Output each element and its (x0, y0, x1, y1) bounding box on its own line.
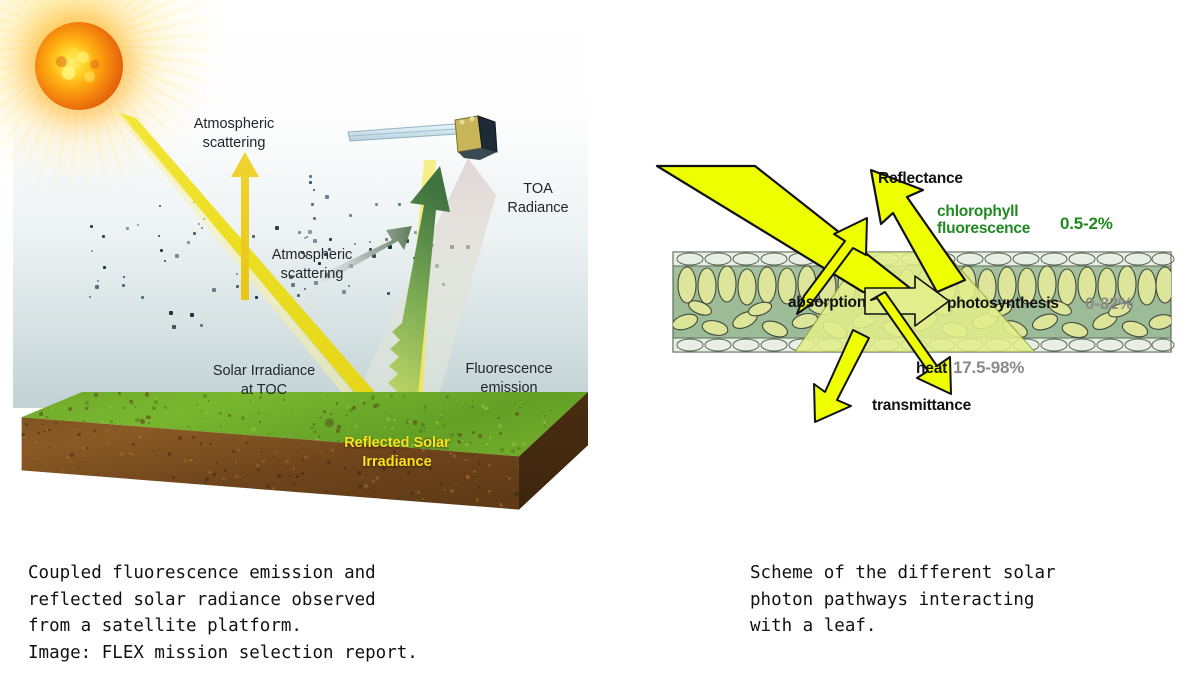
soil-grain (93, 430, 95, 432)
soil-grain (184, 459, 188, 463)
soil-grain (274, 451, 276, 453)
soil-grain (44, 430, 46, 432)
grass-speck (386, 417, 390, 421)
soil-grain (274, 446, 276, 448)
grass-speck (336, 429, 340, 433)
satellite-antenna-icon (470, 117, 475, 122)
grass-speck (39, 412, 43, 416)
soil-grain (105, 495, 108, 498)
grass-speck (472, 400, 473, 401)
grass-speck (435, 421, 438, 424)
grass-speck (311, 427, 313, 429)
grass-speck (228, 414, 231, 417)
grass-speck (489, 436, 492, 439)
soil-grain (197, 501, 201, 505)
soil-grain (273, 493, 276, 496)
grass-speck (337, 425, 340, 428)
grass-speck (110, 405, 113, 408)
soil-grain (115, 497, 118, 500)
soil-grain (250, 498, 253, 501)
left-figure-panel: Atmospheric scattering Atmospheric scatt… (0, 0, 600, 545)
soil-grain (321, 451, 323, 453)
soil-grain (272, 487, 275, 490)
soil-grain (20, 479, 24, 483)
soil-grain (100, 483, 103, 486)
soil-grain (132, 443, 135, 446)
soil-grain (488, 464, 492, 468)
grass-speck (220, 425, 222, 427)
soil-grain (473, 470, 476, 473)
soil-grain (172, 497, 176, 501)
soil-grain (285, 460, 289, 464)
grass-speck (313, 423, 316, 426)
soil-grain (28, 473, 32, 477)
grass-speck (51, 407, 53, 409)
soil-grain (385, 475, 386, 476)
soil-grain (245, 442, 248, 445)
grass-speck (498, 424, 502, 428)
soil-grain (455, 483, 456, 484)
soil-grain (478, 462, 481, 465)
soil-grain (261, 451, 263, 453)
grass-speck (258, 412, 260, 414)
soil-grain (372, 480, 375, 483)
soil-grain (62, 487, 66, 491)
soil-grain (192, 436, 195, 439)
caption-left: Coupled fluorescence emission and reflec… (28, 560, 418, 666)
soil-grain (353, 500, 356, 503)
soil-grain (273, 491, 275, 493)
label-photosynthesis-value: 0-82% (1085, 294, 1133, 314)
grass-speck (355, 425, 358, 428)
soil-grain (358, 485, 362, 489)
soil-grain (222, 495, 224, 497)
soil-grain (499, 503, 503, 507)
soil-grain (239, 476, 241, 478)
soil-grain (273, 494, 276, 497)
grass-speck (148, 422, 150, 424)
grass-speck (550, 409, 552, 411)
soil-grain (152, 450, 153, 451)
grass-speck (205, 411, 209, 415)
soil-grain (407, 471, 411, 475)
soil-grain (295, 482, 296, 483)
soil-grain (103, 497, 105, 499)
grass-speck (446, 395, 450, 399)
soil-grain (296, 475, 299, 478)
soil-grain (200, 442, 203, 445)
soil-grain (217, 479, 218, 480)
grass-speck (497, 417, 499, 419)
soil-grain (117, 438, 118, 439)
grass-speck (532, 429, 533, 430)
grass-speck (391, 427, 394, 430)
grass-speck (519, 407, 520, 408)
soil-grain (237, 449, 240, 452)
soil-grain (273, 482, 274, 483)
soil-grain (247, 493, 249, 495)
grass-speck (145, 392, 149, 396)
soil-grain (117, 455, 118, 456)
soil-grain (301, 472, 304, 475)
soil-grain (326, 490, 328, 492)
soil-grain (235, 475, 238, 478)
soil-grain (111, 452, 112, 453)
soil-grain (168, 452, 172, 456)
ground-block (13, 392, 588, 532)
grass-speck (387, 395, 389, 397)
soil-grain (294, 499, 296, 501)
soil-grain (411, 492, 415, 496)
grass-speck (320, 424, 321, 425)
grass-speck (251, 409, 253, 411)
soil-grain (478, 486, 480, 488)
grass-speck (110, 420, 112, 422)
soil-grain (204, 481, 206, 483)
grass-speck (443, 424, 445, 426)
soil-grain (292, 483, 294, 485)
soil-grain (173, 475, 174, 476)
soil-grain (291, 454, 293, 456)
soil-grain (106, 429, 109, 432)
grass-speck (542, 411, 543, 412)
soil-grain (302, 459, 304, 461)
grass-speck (403, 395, 406, 398)
soil-grain (21, 433, 24, 436)
grass-speck (189, 423, 190, 424)
grass-speck (472, 431, 475, 434)
grass-speck (291, 412, 293, 414)
soil-grain (156, 460, 158, 462)
grass-speck (373, 404, 376, 407)
grass-speck (384, 426, 386, 428)
grass-speck (517, 447, 520, 450)
grass-speck (213, 408, 214, 409)
satellite-body-gold (455, 116, 482, 152)
grass-speck (330, 420, 334, 424)
soil-grain (37, 432, 40, 435)
soil-grain (314, 501, 317, 504)
soil-grain (267, 484, 270, 487)
soil-grain (82, 461, 83, 462)
soil-grain (256, 464, 259, 467)
soil-grain (304, 456, 308, 460)
soil-grain (245, 452, 246, 453)
soil-grain (108, 442, 111, 445)
grass-speck (100, 420, 104, 424)
soil-grain (301, 440, 302, 441)
leaf-scheme-vectors (615, 0, 1200, 545)
grass-speck (408, 420, 411, 423)
grass-speck (522, 442, 526, 446)
grass-speck (376, 403, 380, 407)
soil-grain (192, 488, 194, 490)
grass-speck (393, 419, 396, 422)
grass-speck (196, 404, 198, 406)
grass-speck (68, 407, 72, 411)
grass-speck (208, 400, 210, 402)
grass-speck (471, 405, 474, 408)
grass-speck (515, 412, 519, 416)
grass-speck (201, 410, 202, 411)
soil-grain (232, 450, 234, 452)
soil-grain (131, 453, 134, 456)
grass-speck (85, 401, 89, 405)
grass-speck (367, 412, 369, 414)
grass-speck (484, 407, 487, 410)
grass-speck (226, 411, 227, 412)
soil-grain (224, 503, 225, 504)
grass-speck (390, 402, 391, 403)
grass-speck (441, 417, 443, 419)
grass-speck (320, 416, 323, 419)
soil-grain (422, 498, 424, 500)
soil-grain (25, 423, 27, 425)
soil-grain (242, 492, 243, 493)
soil-grain (235, 462, 237, 464)
soil-grain (139, 503, 140, 504)
soil-grain (13, 484, 15, 486)
grass-speck (222, 401, 223, 402)
grass-speck (217, 417, 220, 420)
soil-grain (87, 432, 89, 434)
label-reflected-solar-irradiance: Reflected Solar Irradiance (326, 434, 468, 471)
soil-grain (36, 444, 37, 445)
soil-grain (310, 502, 314, 506)
soil-grain (169, 488, 170, 489)
soil-grain (488, 490, 490, 492)
soil-grain (212, 473, 216, 477)
grass-speck (241, 416, 245, 420)
grass-speck (511, 449, 515, 453)
soil-grain (265, 499, 266, 500)
soil-grain (152, 499, 153, 500)
soil-grain (243, 436, 245, 438)
grass-speck (544, 415, 546, 417)
grass-speck (421, 423, 425, 427)
soil-grain (292, 467, 295, 470)
soil-grain (303, 445, 304, 446)
grass-speck (148, 416, 151, 419)
soil-grain (216, 462, 218, 464)
grass-speck (283, 399, 285, 401)
soil-grain (228, 496, 229, 497)
soil-grain (514, 492, 518, 496)
soil-grain (78, 466, 79, 467)
soil-grain (97, 473, 99, 475)
soil-grain (260, 499, 263, 502)
soil-grain (432, 497, 434, 499)
soil-grain (16, 446, 18, 448)
label-chlorophyll-fluorescence-value: 0.5-2% (1060, 214, 1113, 234)
grass-speck (135, 418, 139, 422)
grass-speck (345, 414, 347, 416)
grass-speck (85, 407, 88, 410)
grass-speck (219, 412, 222, 415)
soil-grain (288, 479, 289, 480)
grass-speck (500, 448, 504, 452)
soil-grain (76, 488, 79, 491)
soil-grain (13, 470, 15, 472)
label-toa-radiance: TOA Radiance (492, 180, 584, 217)
soil-grain (70, 453, 73, 456)
soil-grain (187, 434, 189, 436)
soil-grain (444, 489, 446, 491)
label-photosynthesis: photosynthesis (947, 295, 1059, 313)
grass-speck (140, 419, 144, 423)
soil-grain (476, 498, 479, 501)
soil-grain (55, 422, 57, 424)
soil-grain (52, 493, 54, 495)
soil-grain (372, 490, 374, 492)
soil-grain (357, 471, 361, 475)
grass-speck (134, 406, 136, 408)
grass-speck (446, 407, 448, 409)
label-heat-value: 17.5-98% (953, 358, 1024, 378)
soil-grain (32, 500, 36, 504)
grass-speck (94, 393, 98, 397)
label-fluorescence-emission: Fluorescence emission (452, 360, 566, 397)
soil-grain (208, 471, 211, 474)
soil-grain (289, 474, 291, 476)
grass-speck (118, 392, 121, 395)
soil-grain (367, 474, 368, 475)
grass-speck (390, 394, 393, 397)
soil-grain (311, 495, 314, 498)
grass-speck (251, 427, 255, 431)
grass-speck (336, 402, 339, 405)
soil-grain (48, 429, 51, 432)
soil-grain (191, 487, 194, 490)
soil-grain (125, 496, 128, 499)
soil-grain (222, 477, 225, 480)
soil-grain (417, 491, 420, 494)
soil-grain (376, 476, 379, 479)
grass-speck (314, 431, 316, 433)
grass-speck (424, 405, 427, 408)
soil-grain (316, 455, 318, 457)
soil-grain (46, 433, 48, 435)
satellite-thruster-icon (460, 120, 465, 125)
label-chlorophyll-fluorescence: chlorophyll fluorescence (937, 204, 1030, 237)
soil-grain (138, 435, 141, 438)
grass-speck (139, 405, 141, 407)
soil-grain (255, 498, 256, 499)
grass-speck (74, 419, 75, 420)
soil-grain (287, 467, 288, 468)
grass-speck (250, 401, 251, 402)
soil-grain (364, 484, 368, 488)
soil-grain (452, 504, 454, 506)
grass-speck (388, 406, 389, 407)
grass-speck (259, 421, 261, 423)
soil-grain (305, 499, 308, 502)
grass-speck (424, 427, 426, 429)
soil-grain (34, 477, 36, 479)
soil-grain (198, 496, 200, 498)
grass-speck (164, 406, 167, 409)
right-figure-panel: Reflectance chlorophyll fluorescence 0.5… (615, 0, 1200, 545)
soil-grain (440, 482, 442, 484)
soil-grain (257, 468, 260, 471)
grass-speck (41, 410, 43, 412)
soil-grain (350, 485, 351, 486)
soil-grain (127, 478, 128, 479)
label-atmospheric-scattering-mid: Atmospheric scattering (253, 246, 371, 283)
grass-speck (123, 407, 125, 409)
grass-speck (131, 402, 134, 405)
grass-speck (207, 420, 208, 421)
grass-speck (440, 405, 442, 407)
soil-grain (24, 436, 27, 439)
grass-speck (471, 403, 472, 404)
label-absorption: absorption (788, 294, 866, 312)
label-heat: heat (916, 360, 947, 378)
soil-grain (224, 469, 227, 472)
soil-grain (277, 474, 281, 478)
soil-grain (36, 492, 39, 495)
soil-grain (361, 477, 363, 479)
grass-speck (512, 442, 516, 446)
soil-grain (128, 501, 130, 503)
grass-speck (413, 420, 417, 424)
grass-speck (485, 443, 488, 446)
soil-grain (189, 459, 193, 463)
grass-speck (469, 441, 472, 444)
label-solar-irradiance-toc: Solar Irradiance at TOC (198, 362, 330, 399)
grass-speck (499, 432, 503, 436)
grass-speck (330, 413, 332, 415)
soil-grain (85, 447, 88, 450)
grass-speck (494, 431, 495, 432)
soil-grain (66, 456, 69, 459)
soil-grain (37, 457, 39, 459)
soil-grain (275, 493, 278, 496)
grass-speck (266, 413, 268, 415)
grass-speck (360, 400, 362, 402)
soil-grain (218, 494, 222, 498)
soil-grain (262, 460, 265, 463)
soil-grain (467, 476, 471, 480)
soil-grain (298, 450, 299, 451)
grass-speck (154, 400, 158, 404)
grass-speck (544, 425, 546, 427)
grass-speck (543, 420, 547, 424)
soil-grain (281, 474, 284, 477)
grass-speck (463, 407, 465, 409)
soil-grain (257, 455, 258, 456)
grass-speck (419, 429, 423, 433)
soil-grain (120, 452, 124, 456)
grass-speck (349, 408, 353, 412)
grass-speck (268, 433, 270, 435)
soil-grain (272, 456, 274, 458)
label-transmittance: transmittance (872, 397, 971, 415)
grass-speck (478, 434, 482, 438)
soil-grain (335, 477, 336, 478)
soil-grain (61, 469, 63, 471)
soil-grain (17, 497, 20, 500)
grass-speck (440, 414, 442, 416)
soil-grain (198, 469, 199, 470)
soil-grain (205, 477, 209, 481)
soil-grain (42, 424, 44, 426)
caption-right: Scheme of the different solar photon pat… (750, 560, 1056, 640)
soil-grain (227, 487, 229, 489)
grass-speck (323, 410, 326, 413)
soil-grain (77, 433, 81, 437)
soil-grain (178, 436, 182, 440)
